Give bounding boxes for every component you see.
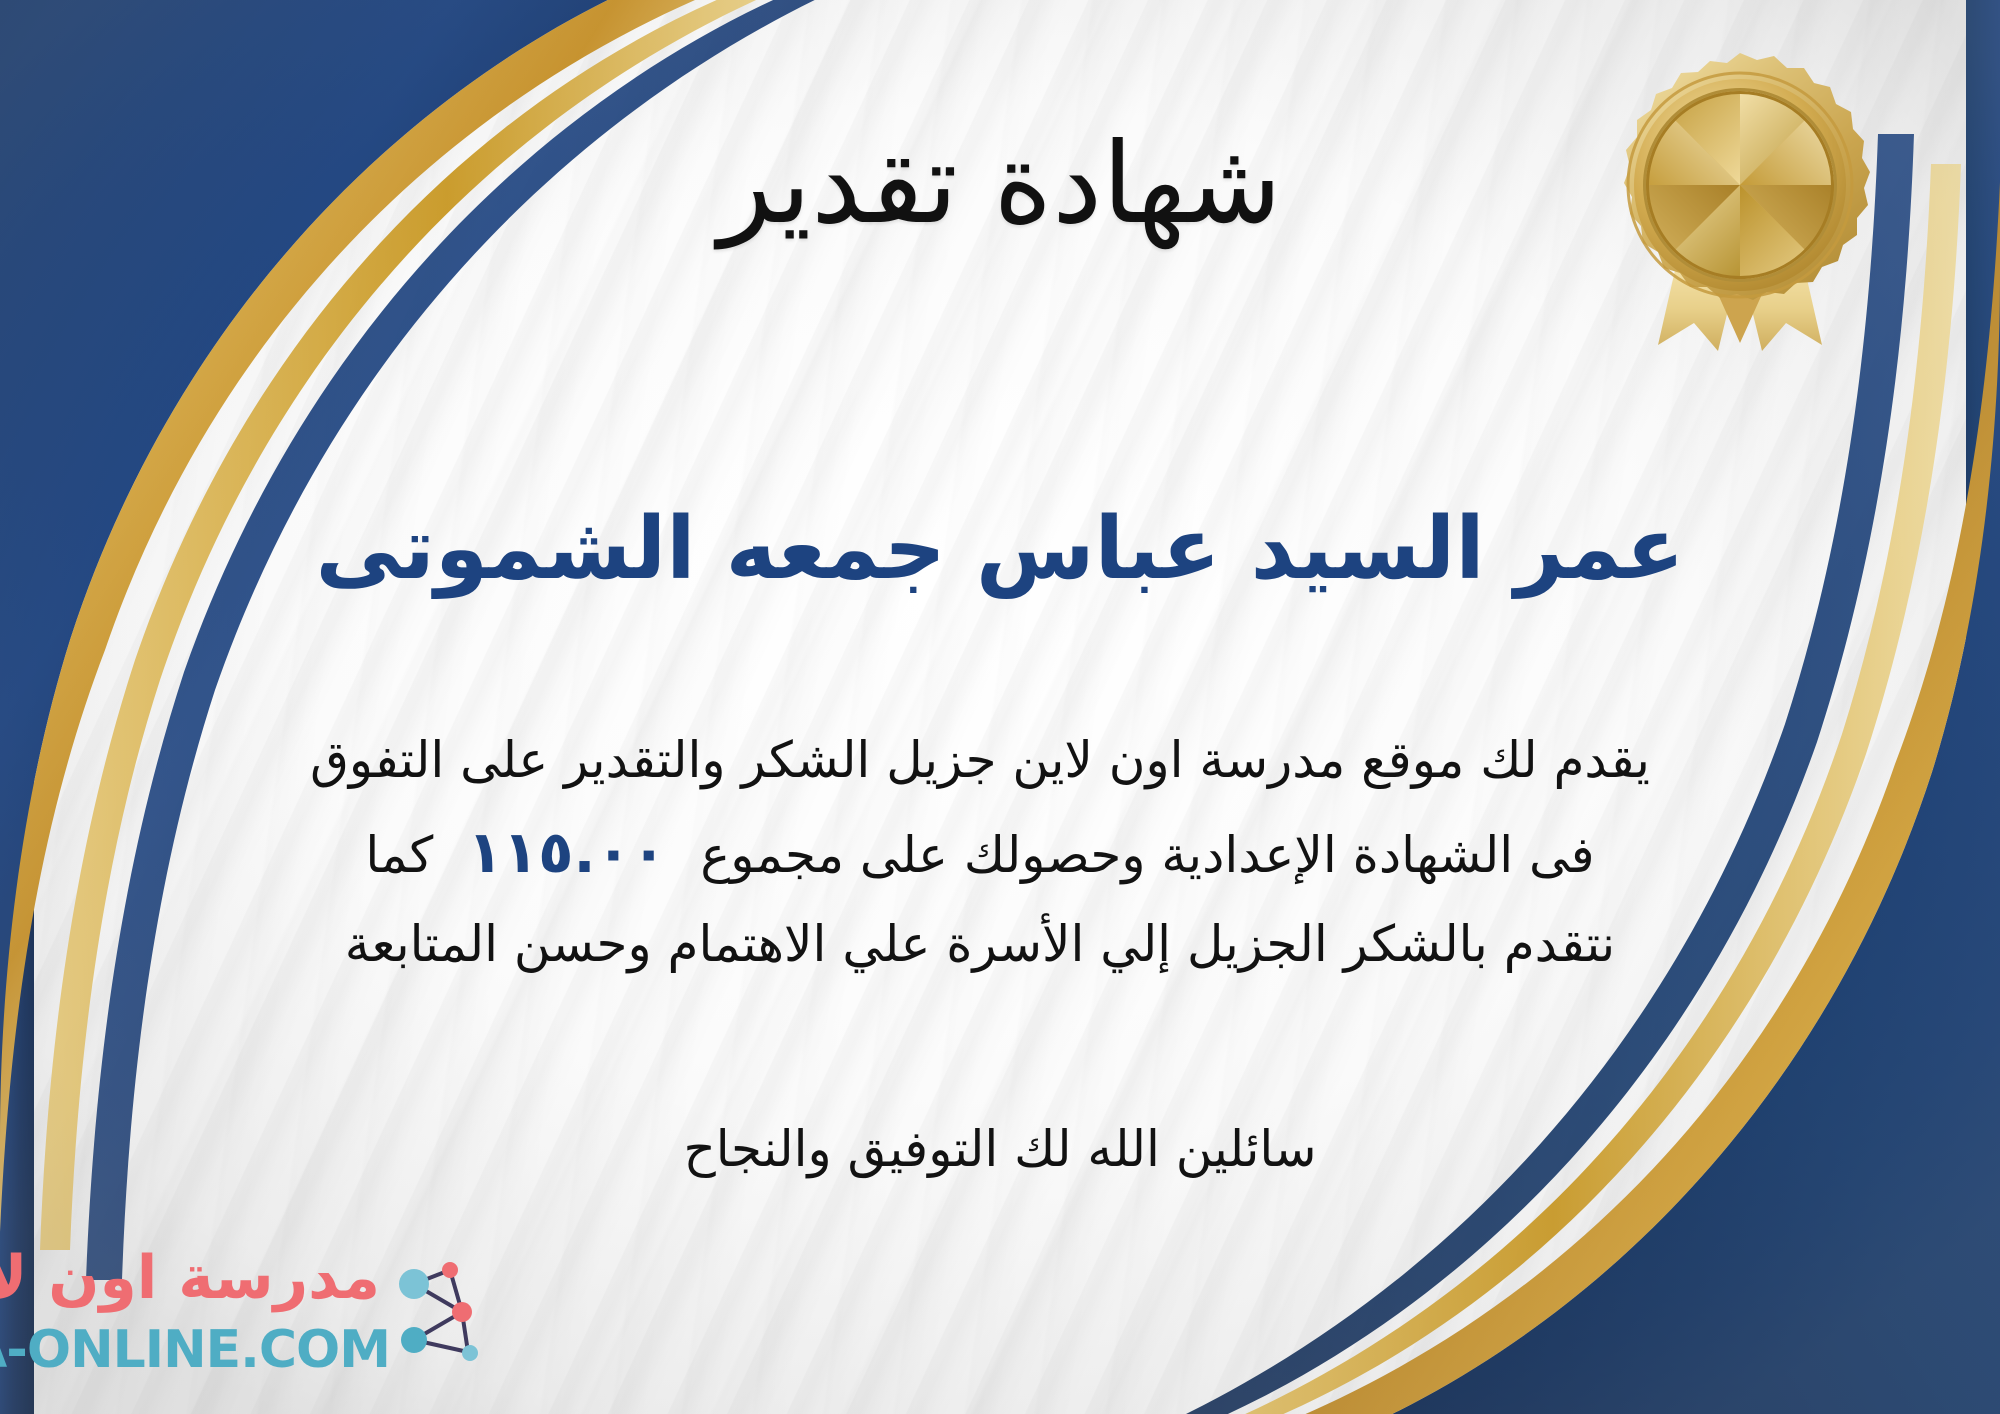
body-line-2: فى الشهادة الإعدادية وحصولك على مجموع١١٥…	[120, 803, 1840, 902]
certificate-title: شهادة تقدير	[0, 122, 2000, 247]
student-name: عمر السيد عباس جمعه الشموتى	[0, 500, 2000, 599]
body-line-2-left: كما	[365, 826, 433, 884]
body-line-1: يقدم لك موقع مدرسة اون لاين جزيل الشكر و…	[120, 718, 1840, 803]
certificate-body: يقدم لك موقع مدرسة اون لاين جزيل الشكر و…	[120, 718, 1840, 987]
brand-logo[interactable]: مدرسة اون لاين MADRSA-ONLINE.COM	[28, 1248, 498, 1388]
brand-name-arabic: مدرسة اون لاين	[0, 1248, 380, 1308]
brand-website: MADRSA-ONLINE.COM	[0, 1324, 390, 1376]
network-nodes-icon	[390, 1254, 498, 1374]
closing-line: سائلين الله لك التوفيق والنجاح	[0, 1112, 2000, 1187]
body-line-3: نتقدم بالشكر الجزيل إلي الأسرة علي الاهت…	[120, 902, 1840, 987]
body-line-2-right: فى الشهادة الإعدادية وحصولك على مجموع	[700, 826, 1594, 884]
certificate-canvas: شهادة تقدير عمر السيد عباس جمعه الشموتى …	[0, 0, 2000, 1414]
grade-value: ١١٥.٠٠	[433, 818, 700, 886]
